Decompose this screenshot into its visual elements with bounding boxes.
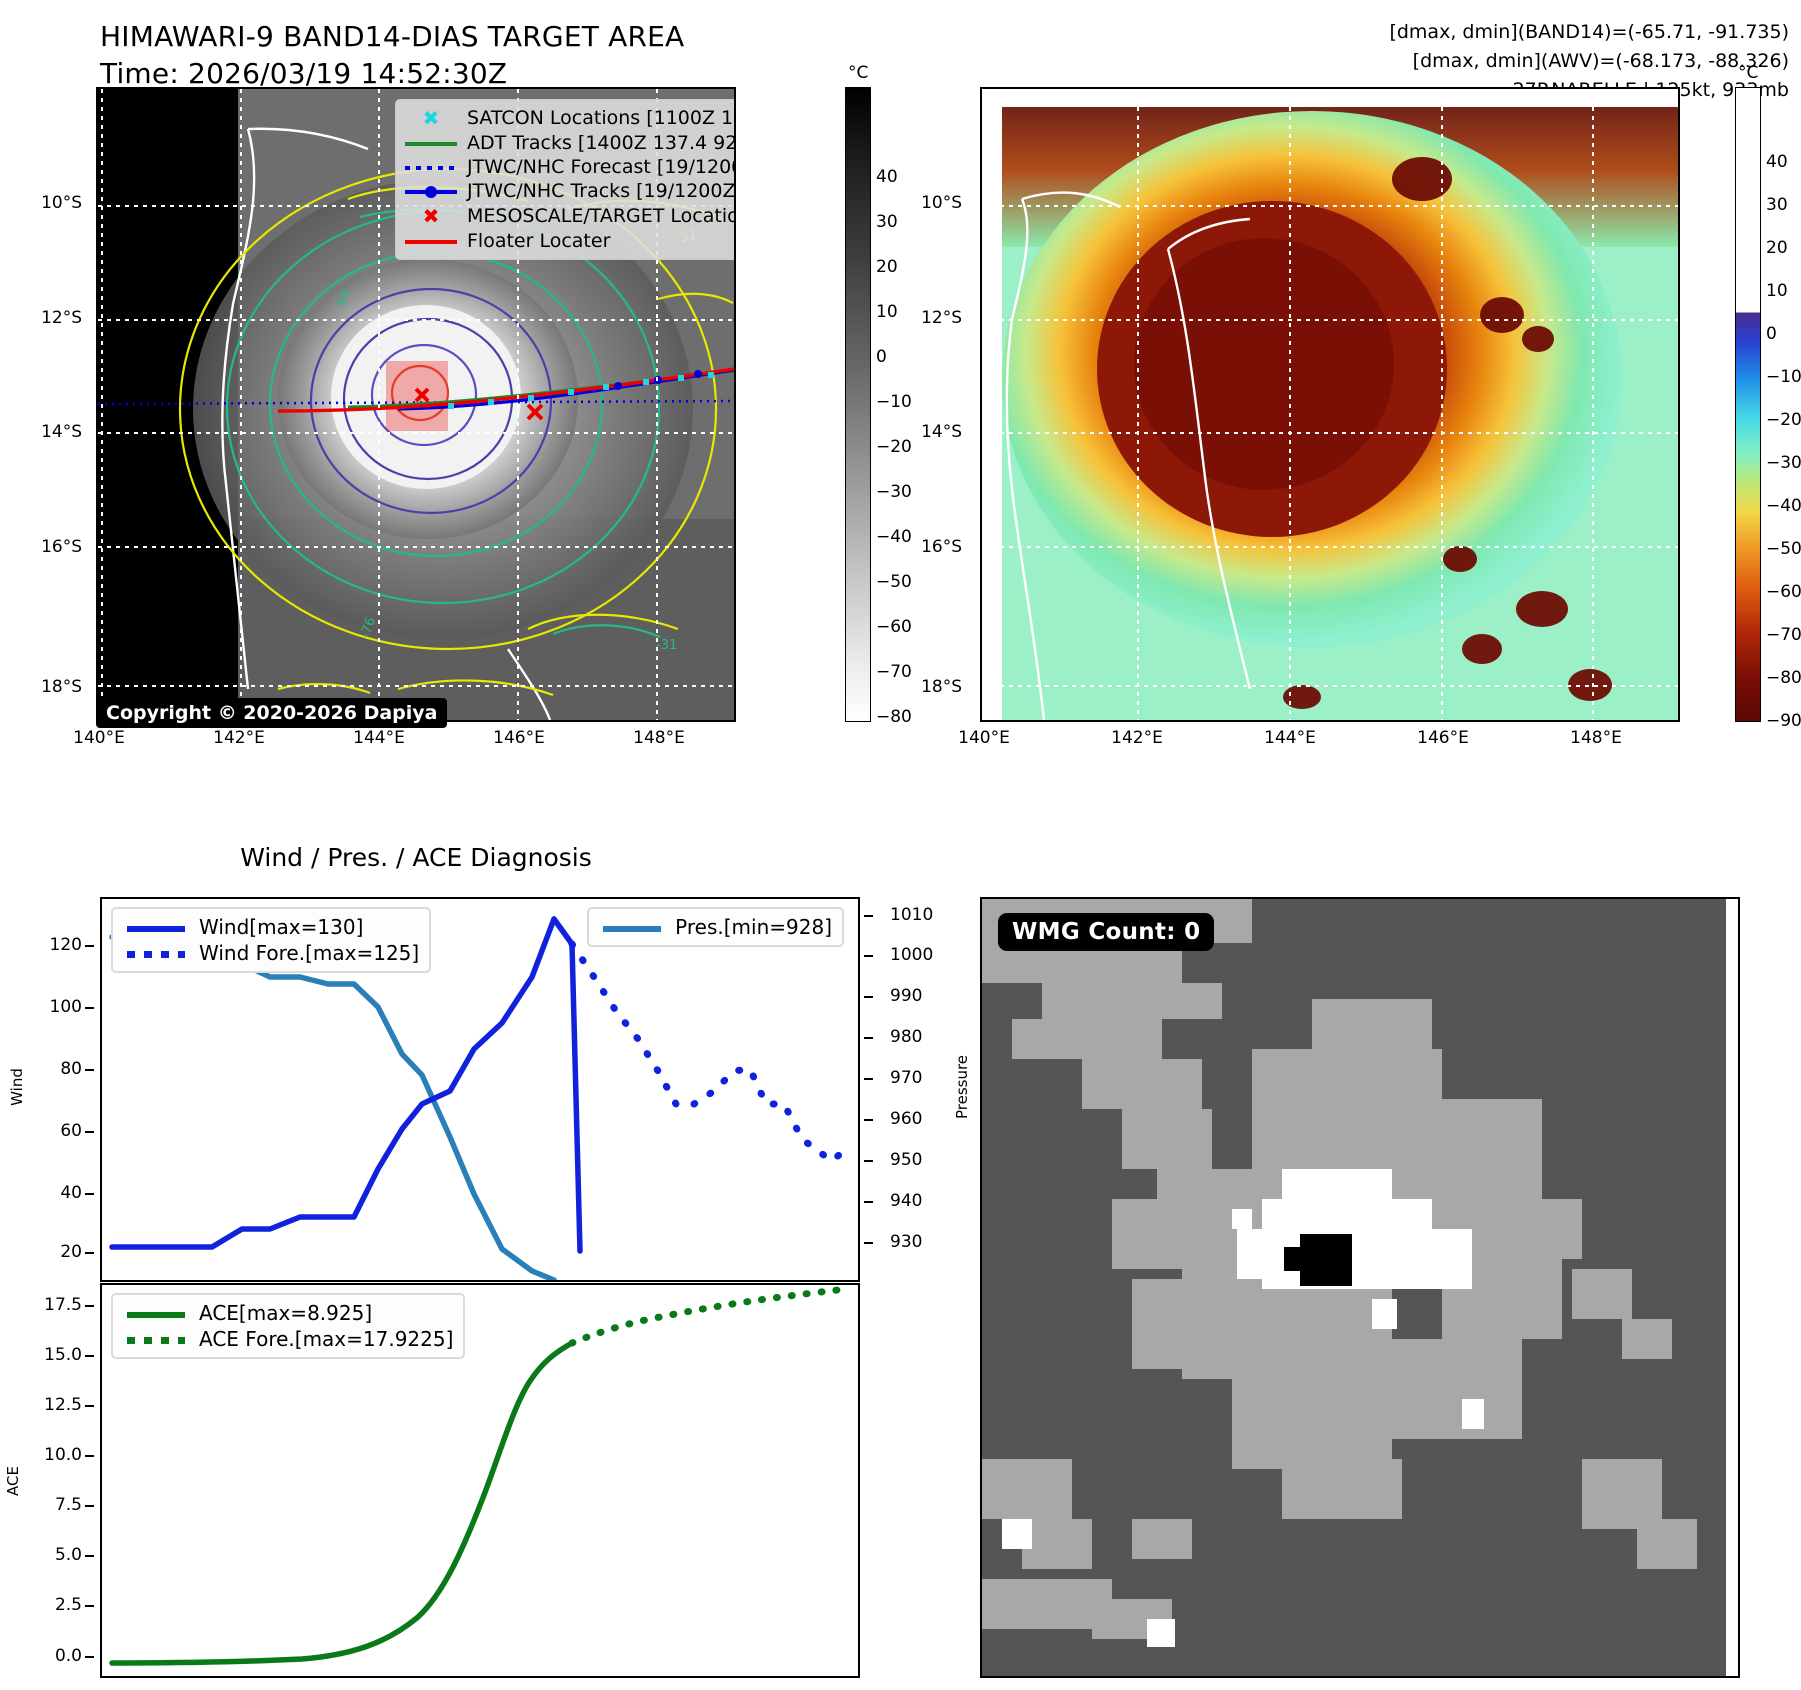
legend-row-tracks: JTWC/NHC Tracks [19/1200Z] [405, 179, 736, 203]
wind-legend-row-forecast: Wind Fore.[max=125] [123, 940, 419, 966]
map-left-x-axis: 140°E 142°E 144°E 146°E 148°E [96, 728, 736, 756]
pres-ytick-950: 950 [890, 1150, 922, 1170]
title-line-1: HIMAWARI-9 BAND14-DIAS TARGET AREA [100, 18, 684, 55]
yr-tick-14s: 14°S [921, 422, 962, 442]
ace-ytick-100: 10.0 [44, 1445, 82, 1465]
cbl-tick-0: 40 [876, 167, 898, 187]
ace-forecast-dots-icon [127, 1337, 185, 1344]
pressure-axis-name: Pressure [953, 1055, 971, 1119]
ace-legend: ACE[max=8.925] ACE Fore.[max=17.9225] [111, 1293, 465, 1359]
wind-ytick-60: 60 [60, 1121, 82, 1141]
yr-tick-16s: 16°S [921, 537, 962, 557]
ace-chart[interactable]: ACE[max=8.925] ACE Fore.[max=17.9225] [100, 1283, 860, 1678]
ace-legend-row-forecast: ACE Fore.[max=17.9225] [123, 1326, 453, 1352]
ace-y-axis: 17.5 15.0 12.5 10.0 7.5 5.0 2.5 0.0 [10, 1283, 98, 1678]
cbr-tick-13: −90 [1766, 711, 1801, 731]
x-tick-140e: 140°E [73, 728, 125, 748]
ace-legend-label: ACE[max=8.925] [189, 1300, 453, 1326]
ace-ytick-00: 0.0 [55, 1646, 82, 1666]
y-tick-14s: 14°S [41, 422, 82, 442]
pressure-legend-label: Pres.[min=928] [665, 914, 832, 940]
cbr-tick-6: −20 [1766, 410, 1801, 430]
colorbar-right-ticks: 40 30 20 10 0 −10 −20 −30 −40 −50 −60 −7… [1766, 87, 1801, 722]
ace-ytick-25: 2.5 [55, 1595, 82, 1615]
pres-ytick-990: 990 [890, 986, 922, 1006]
xr-tick-148e: 148°E [1570, 728, 1622, 748]
pres-ytick-1000: 1000 [890, 945, 933, 965]
map-left-y-axis: 10°S 12°S 14°S 16°S 18°S [30, 87, 88, 722]
cbr-tick-1: 30 [1766, 195, 1788, 215]
legend-label-floater: Floater Locater [457, 229, 736, 253]
colorbar-left-unit: °C [848, 63, 868, 83]
yr-tick-12s: 12°S [921, 308, 962, 328]
yr-tick-10s: 10°S [921, 193, 962, 213]
legend-row-mesoscale: ✖ MESOSCALE/TARGET Location [405, 203, 736, 229]
xr-tick-144e: 144°E [1264, 728, 1316, 748]
wind-ytick-40: 40 [60, 1183, 82, 1203]
awv-enhanced-map[interactable] [980, 87, 1680, 722]
cbr-tick-10: −60 [1766, 582, 1801, 602]
legend-row-adt: ADT Tracks [1400Z 137.4 921.1] [405, 131, 736, 155]
cbr-tick-0: 40 [1766, 152, 1788, 172]
y-tick-12s: 12°S [41, 308, 82, 328]
cbr-tick-12: −80 [1766, 668, 1801, 688]
wind-ytick-100: 100 [50, 997, 82, 1017]
wind-ytick-20: 20 [60, 1242, 82, 1262]
wmg-raster [982, 899, 1738, 1676]
cbr-tick-4: 0 [1766, 324, 1777, 344]
jtwc-track-marker-icon [405, 190, 457, 194]
pressure-line-icon [603, 926, 661, 932]
xr-tick-146e: 146°E [1417, 728, 1469, 748]
legend-row-floater: Floater Locater [405, 229, 736, 253]
svg-text:-31: -31 [656, 638, 677, 653]
wind-axis-name: Wind [8, 1068, 26, 1106]
map-right-x-axis: 140°E 142°E 144°E 146°E 148°E [980, 728, 1680, 756]
wind-ytick-80: 80 [60, 1059, 82, 1079]
y-tick-16s: 16°S [41, 537, 82, 557]
map-left-legend: ✖ SATCON Locations [1100Z 143 920] ADT T… [395, 99, 736, 260]
legend-row-satcon: ✖ SATCON Locations [1100Z 143 920] [405, 105, 736, 131]
cbl-tick-2: 20 [876, 257, 898, 277]
cbr-tick-7: −30 [1766, 453, 1801, 473]
cbr-tick-11: −70 [1766, 625, 1801, 645]
legend-label-mesoscale: MESOSCALE/TARGET Location [457, 203, 736, 229]
wind-ytick-120: 120 [50, 935, 82, 955]
map-right-y-axis: 10°S 12°S 14°S 16°S 18°S [900, 87, 968, 722]
wind-pressure-chart[interactable]: Wind[max=130] Wind Fore.[max=125] Pres.[… [100, 897, 860, 1282]
ace-ytick-75: 7.5 [55, 1495, 82, 1515]
cbl-tick-4: 0 [876, 347, 887, 367]
legend-label-tracks: JTWC/NHC Tracks [19/1200Z] [457, 179, 736, 203]
legend-label-forecast: JTWC/NHC Forecast [19/1200Z] [457, 155, 736, 179]
copyright-notice: Copyright © 2020-2026 Dapiya [96, 698, 447, 728]
y-tick-18s: 18°S [41, 677, 82, 697]
wmg-count-badge: WMG Count: 0 [998, 913, 1214, 951]
ace-forecast-legend-label: ACE Fore.[max=17.9225] [189, 1326, 453, 1352]
himawari-band14-map[interactable]: -31 -64 -76 -31 [96, 87, 736, 722]
pressure-legend-row: Pres.[min=928] [599, 914, 832, 940]
adt-line-icon [405, 142, 457, 146]
ace-ytick-125: 12.5 [44, 1395, 82, 1415]
dmax-dmin-band14: [dmax, dmin](BAND14)=(-65.71, -91.735) [1389, 18, 1789, 47]
pressure-legend: Pres.[min=928] [587, 907, 844, 947]
pres-ytick-930: 930 [890, 1232, 922, 1252]
wind-y-axis: 120 100 80 60 40 20 [20, 897, 98, 1282]
colorbar-right-unit: °C [1738, 63, 1758, 83]
pressure-y-axis: 1010 1000 990 980 970 960 950 940 930 [862, 897, 952, 1282]
legend-label-adt: ADT Tracks [1400Z 137.4 921.1] [457, 131, 736, 155]
cbl-tick-1: 30 [876, 212, 898, 232]
cbl-tick-3: 10 [876, 302, 898, 322]
cbr-tick-8: −40 [1766, 496, 1801, 516]
jtwc-forecast-dots-icon [405, 166, 457, 170]
x-tick-146e: 146°E [493, 728, 545, 748]
wind-forecast-legend-label: Wind Fore.[max=125] [189, 940, 419, 966]
colorbar-left[interactable] [845, 87, 871, 722]
pres-ytick-980: 980 [890, 1027, 922, 1047]
floater-line-icon [405, 240, 457, 244]
page-title: HIMAWARI-9 BAND14-DIAS TARGET AREA Time:… [100, 18, 684, 92]
wmg-cloud-cluster-panel[interactable]: WMG Count: 0 [980, 897, 1740, 1678]
wind-legend: Wind[max=130] Wind Fore.[max=125] [111, 907, 431, 973]
awv-imagery [982, 89, 1678, 720]
pres-ytick-940: 940 [890, 1191, 922, 1211]
diagnosis-title: Wind / Pres. / ACE Diagnosis [240, 843, 592, 872]
dmax-dmin-awv: [dmax, dmin](AWV)=(-68.173, -88.326) [1389, 47, 1789, 76]
ace-ytick-50: 5.0 [55, 1545, 82, 1565]
satcon-x-icon: ✖ [423, 106, 440, 130]
wind-legend-row-solid: Wind[max=130] [123, 914, 419, 940]
ace-ytick-175: 17.5 [44, 1295, 82, 1315]
wind-forecast-dots-icon [127, 951, 185, 958]
pres-ytick-1010: 1010 [890, 905, 933, 925]
wind-legend-label: Wind[max=130] [189, 914, 419, 940]
colorbar-right[interactable] [1735, 87, 1761, 722]
pres-ytick-960: 960 [890, 1109, 922, 1129]
xr-tick-142e: 142°E [1111, 728, 1163, 748]
x-tick-142e: 142°E [213, 728, 265, 748]
ace-line-icon [127, 1312, 185, 1318]
y-tick-10s: 10°S [41, 193, 82, 213]
pres-ytick-970: 970 [890, 1068, 922, 1088]
ace-legend-row-solid: ACE[max=8.925] [123, 1300, 453, 1326]
cbr-tick-9: −50 [1766, 539, 1801, 559]
cbr-tick-3: 10 [1766, 281, 1788, 301]
ace-ytick-150: 15.0 [44, 1345, 82, 1365]
wind-line-icon [127, 926, 185, 932]
x-tick-148e: 148°E [633, 728, 685, 748]
cbr-tick-2: 20 [1766, 238, 1788, 258]
mesoscale-x-icon: ✖ [423, 204, 440, 228]
legend-label-satcon: SATCON Locations [1100Z 143 920] [457, 105, 736, 131]
ace-axis-name: ACE [4, 1466, 22, 1496]
x-tick-144e: 144°E [353, 728, 405, 748]
legend-row-forecast: JTWC/NHC Forecast [19/1200Z] [405, 155, 736, 179]
xr-tick-140e: 140°E [958, 728, 1010, 748]
yr-tick-18s: 18°S [921, 677, 962, 697]
cbr-tick-5: −10 [1766, 367, 1801, 387]
